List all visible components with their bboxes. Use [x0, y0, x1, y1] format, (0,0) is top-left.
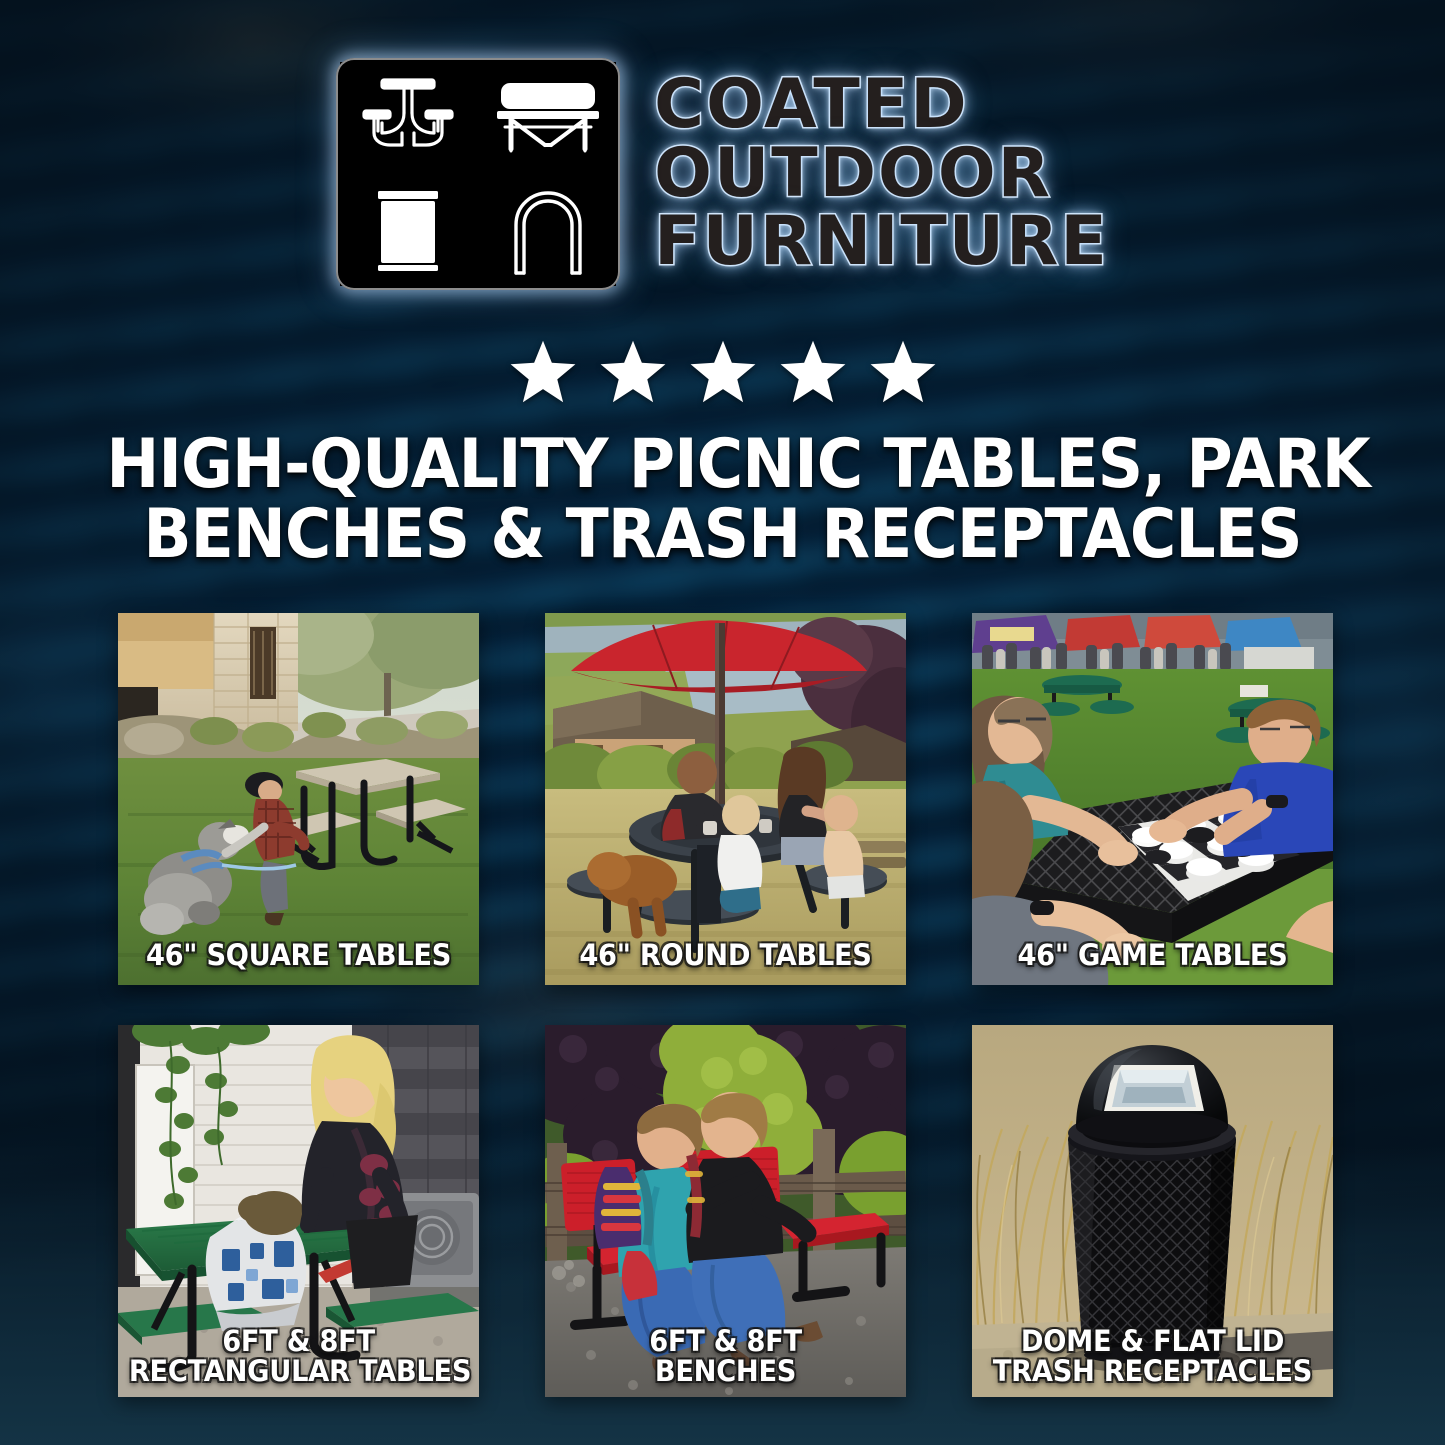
caption-line-2: BENCHES — [556, 1356, 895, 1387]
star-icon — [866, 336, 940, 408]
product-tile-round-tables[interactable]: 46" ROUND TABLES — [545, 613, 906, 985]
product-grid: 46" SQUARE TABLES — [118, 613, 1333, 1397]
product-tile-game-tables[interactable]: 46" GAME TABLES — [972, 613, 1333, 985]
product-photo-round-tables — [545, 613, 906, 985]
caption-line-2: RECTANGULAR TABLES — [129, 1356, 468, 1387]
picnic-table-side-icon — [480, 62, 616, 172]
product-photo-square-tables — [118, 613, 479, 985]
product-tile-square-tables[interactable]: 46" SQUARE TABLES — [118, 613, 479, 985]
brand-logo: COATED OUTDOOR FURNITURE — [0, 58, 1445, 290]
product-caption: 46" ROUND TABLES — [556, 940, 895, 971]
product-tile-rectangular-tables[interactable]: 6FT & 8FT RECTANGULAR TABLES — [118, 1025, 479, 1397]
caption-line-1: 46" SQUARE TABLES — [129, 940, 468, 971]
caption-line-1: 6FT & 8FT — [556, 1326, 895, 1357]
product-caption: DOME & FLAT LID TRASH RECEPTACLES — [983, 1326, 1322, 1387]
product-caption: 6FT & 8FT BENCHES — [556, 1326, 895, 1387]
logo-word-line-3: FURNITURE — [654, 209, 1109, 276]
headline-line-2: BENCHES & TRASH RECEPTACLES — [106, 500, 1338, 570]
picnic-table-front-icon — [340, 62, 476, 172]
product-caption: 46" SQUARE TABLES — [129, 940, 468, 971]
star-icon — [596, 336, 670, 408]
caption-line-1: 46" ROUND TABLES — [556, 940, 895, 971]
bike-rack-arch-icon — [480, 176, 616, 286]
caption-line-1: DOME & FLAT LID — [983, 1326, 1322, 1357]
star-icon — [506, 336, 580, 408]
page-title: HIGH-QUALITY PICNIC TABLES, PARK BENCHES… — [106, 430, 1338, 570]
logo-icon-grid — [336, 58, 620, 290]
product-tile-benches[interactable]: 6FT & 8FT BENCHES — [545, 1025, 906, 1397]
caption-line-1: 46" GAME TABLES — [983, 940, 1322, 971]
logo-word-line-2: OUTDOOR — [654, 141, 1109, 208]
logo-wordmark: COATED OUTDOOR FURNITURE — [654, 72, 1109, 276]
caption-line-1: 6FT & 8FT — [129, 1326, 468, 1357]
trash-receptacle-icon — [340, 176, 476, 286]
marketing-poster: COATED OUTDOOR FURNITURE HIGH-QUALITY PI… — [0, 0, 1445, 1445]
star-icon — [776, 336, 850, 408]
star-rating — [0, 336, 1445, 408]
product-caption: 46" GAME TABLES — [983, 940, 1322, 971]
caption-line-2: TRASH RECEPTACLES — [983, 1356, 1322, 1387]
product-tile-trash-receptacles[interactable]: DOME & FLAT LID TRASH RECEPTACLES — [972, 1025, 1333, 1397]
logo-word-line-1: COATED — [654, 72, 1109, 139]
star-icon — [686, 336, 760, 408]
product-photo-game-tables — [972, 613, 1333, 985]
headline-line-1: HIGH-QUALITY PICNIC TABLES, PARK — [106, 430, 1338, 500]
product-caption: 6FT & 8FT RECTANGULAR TABLES — [129, 1326, 468, 1387]
